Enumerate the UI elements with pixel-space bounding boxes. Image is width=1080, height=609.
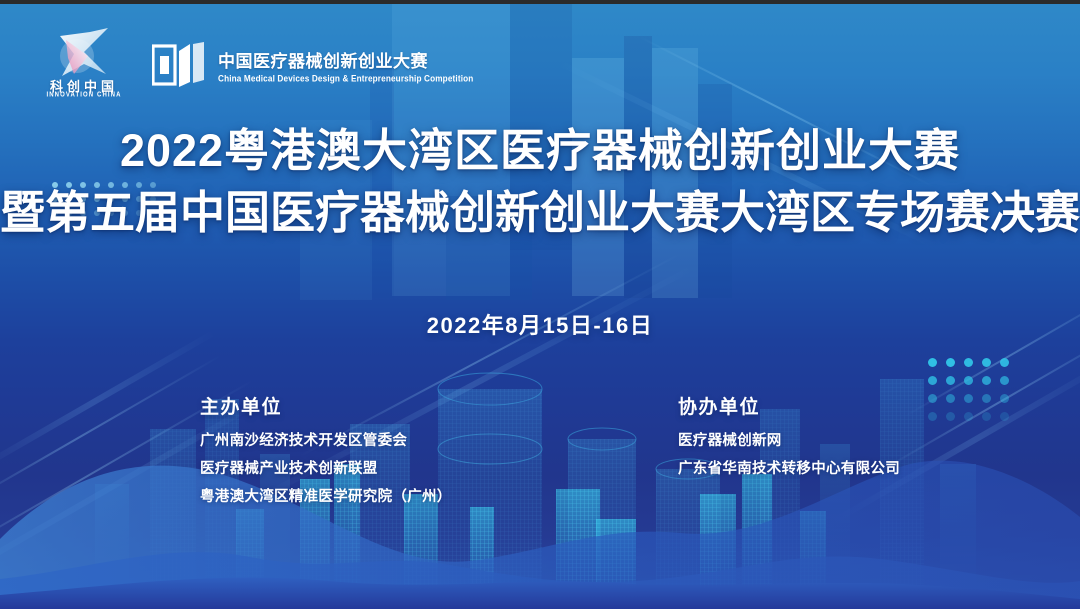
co-organizer-block: 协办单位 医疗器械创新网 广东省华南技术转移中心有限公司 bbox=[678, 392, 900, 478]
header-logos: 科创中国 INNOVATION CHINA 中国医疗器械创新创业大赛 China… bbox=[38, 26, 473, 104]
innovation-china-logo[interactable]: 科创中国 INNOVATION CHINA bbox=[38, 26, 130, 104]
competition-door-logo-icon bbox=[152, 42, 206, 88]
host-organizer-block: 主办单位 广州南沙经济技术开发区管委会 医疗器械产业技术创新联盟 粤港澳大湾区精… bbox=[200, 392, 452, 506]
title-line-2: 暨第五届中国医疗器械创新创业大赛大湾区专场赛决赛 bbox=[0, 188, 1080, 238]
top-edge-bar bbox=[0, 0, 1080, 4]
host-organizer-item: 广州南沙经济技术开发区管委会 bbox=[200, 429, 452, 450]
co-organizer-heading: 协办单位 bbox=[678, 392, 900, 419]
co-organizer-item: 医疗器械创新网 bbox=[678, 429, 900, 450]
competition-label-en: China Medical Devices Design & Entrepren… bbox=[218, 73, 473, 83]
title-line-1: 2022粤港澳大湾区医疗器械创新创业大赛 bbox=[0, 126, 1080, 176]
dot-grid-right bbox=[928, 358, 1018, 430]
innovation-china-logo-icon bbox=[44, 26, 124, 80]
innovation-china-label-en: INNOVATION CHINA bbox=[38, 91, 130, 99]
event-poster: 科创中国 INNOVATION CHINA 中国医疗器械创新创业大赛 China… bbox=[0, 0, 1080, 609]
event-date: 2022年8月15日-16日 bbox=[0, 308, 1080, 340]
host-organizer-item: 医疗器械产业技术创新联盟 bbox=[200, 457, 452, 478]
competition-logo[interactable]: 中国医疗器械创新创业大赛 China Medical Devices Desig… bbox=[152, 42, 473, 88]
host-organizer-item: 粤港澳大湾区精准医学研究院（广州） bbox=[200, 485, 452, 506]
poster-title: 2022粤港澳大湾区医疗器械创新创业大赛 暨第五届中国医疗器械创新创业大赛大湾区… bbox=[0, 126, 1080, 239]
co-organizer-item: 广东省华南技术转移中心有限公司 bbox=[678, 457, 900, 478]
wave-decoration bbox=[0, 429, 1080, 609]
competition-label-cn: 中国医疗器械创新创业大赛 bbox=[218, 47, 473, 72]
host-organizer-heading: 主办单位 bbox=[200, 392, 452, 419]
